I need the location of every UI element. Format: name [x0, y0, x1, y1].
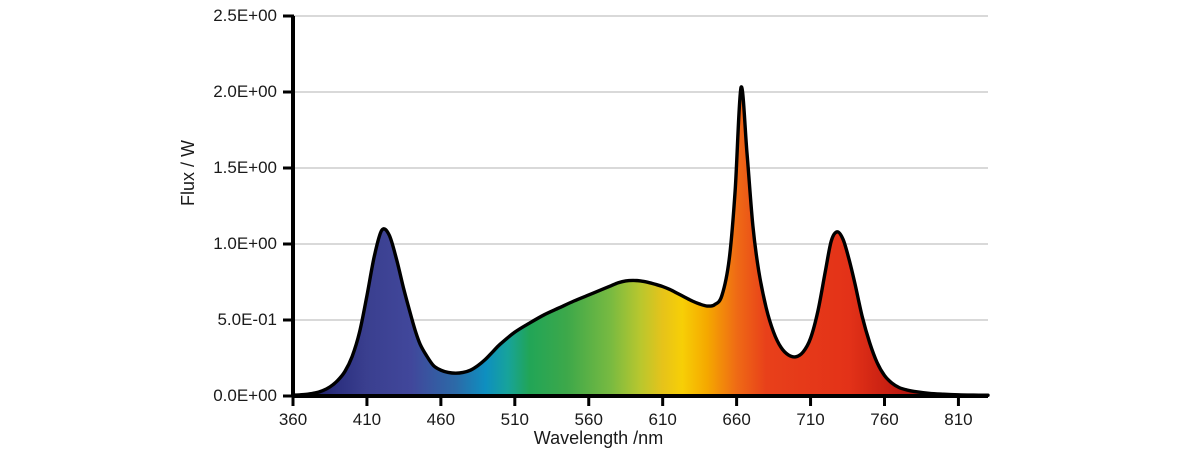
spectral-flux-chart: 0.0E+005.0E-011.0E+001.5E+002.0E+002.5E+…	[0, 0, 1197, 464]
y-tick-label-0.0E+00: 0.0E+00	[185, 386, 277, 406]
y-tick-label-2.5E+00: 2.5E+00	[185, 6, 277, 26]
x-axis-title: Wavelength /nm	[0, 428, 1197, 449]
x-tick-label-610: 610	[648, 410, 676, 430]
y-axis-title: Flux / W	[178, 140, 199, 206]
x-tick-label-810: 810	[944, 410, 972, 430]
y-tick-label-5.0E-01: 5.0E-01	[185, 310, 277, 330]
x-tick-label-460: 460	[427, 410, 455, 430]
x-tick-label-710: 710	[796, 410, 824, 430]
y-tick-label-1.0E+00: 1.0E+00	[185, 234, 277, 254]
spectrum-fill-area	[293, 87, 988, 396]
x-tick-label-760: 760	[870, 410, 898, 430]
chart-plot-area	[0, 0, 1197, 464]
y-tick-label-2.0E+00: 2.0E+00	[185, 82, 277, 102]
x-tick-label-560: 560	[575, 410, 603, 430]
x-tick-label-510: 510	[501, 410, 529, 430]
x-tick-label-410: 410	[353, 410, 381, 430]
x-tick-label-660: 660	[722, 410, 750, 430]
x-tick-label-360: 360	[279, 410, 307, 430]
